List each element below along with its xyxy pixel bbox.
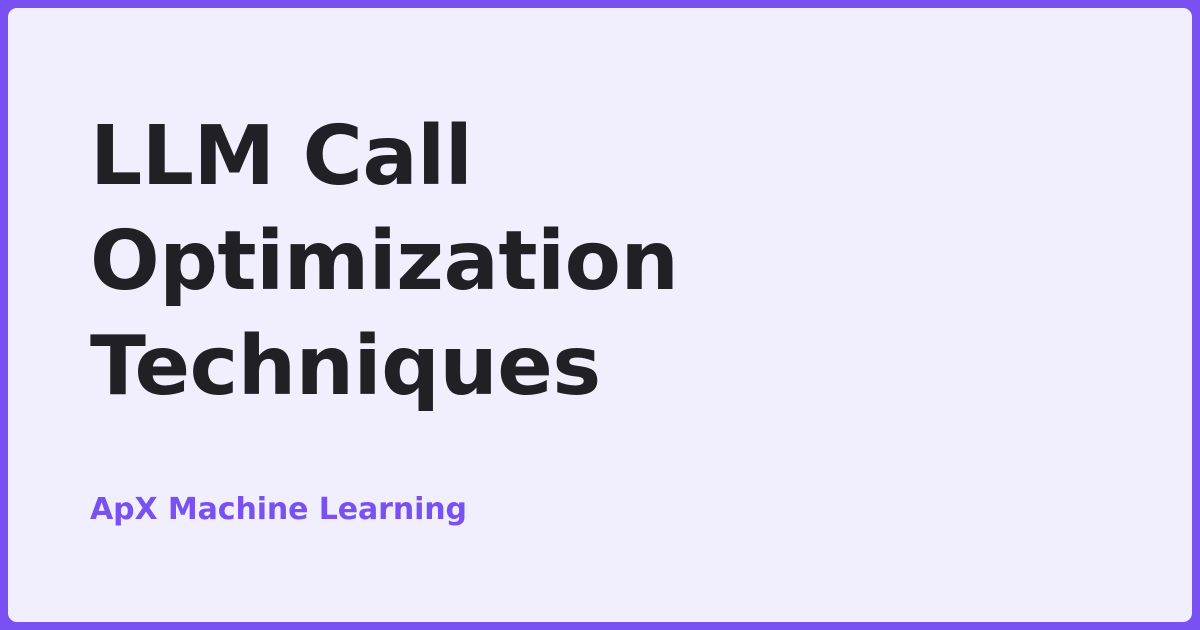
brand-block: ApX Machine Learning [90, 490, 990, 530]
og-share-card: LLM Call Optimization Techniques ApX Mac… [0, 0, 1200, 630]
page-title: LLM Call Optimization Techniques [90, 104, 990, 419]
card-canvas: LLM Call Optimization Techniques ApX Mac… [8, 8, 1192, 622]
brand-name: ApX Machine Learning [90, 490, 990, 530]
title-block: LLM Call Optimization Techniques [90, 104, 990, 419]
